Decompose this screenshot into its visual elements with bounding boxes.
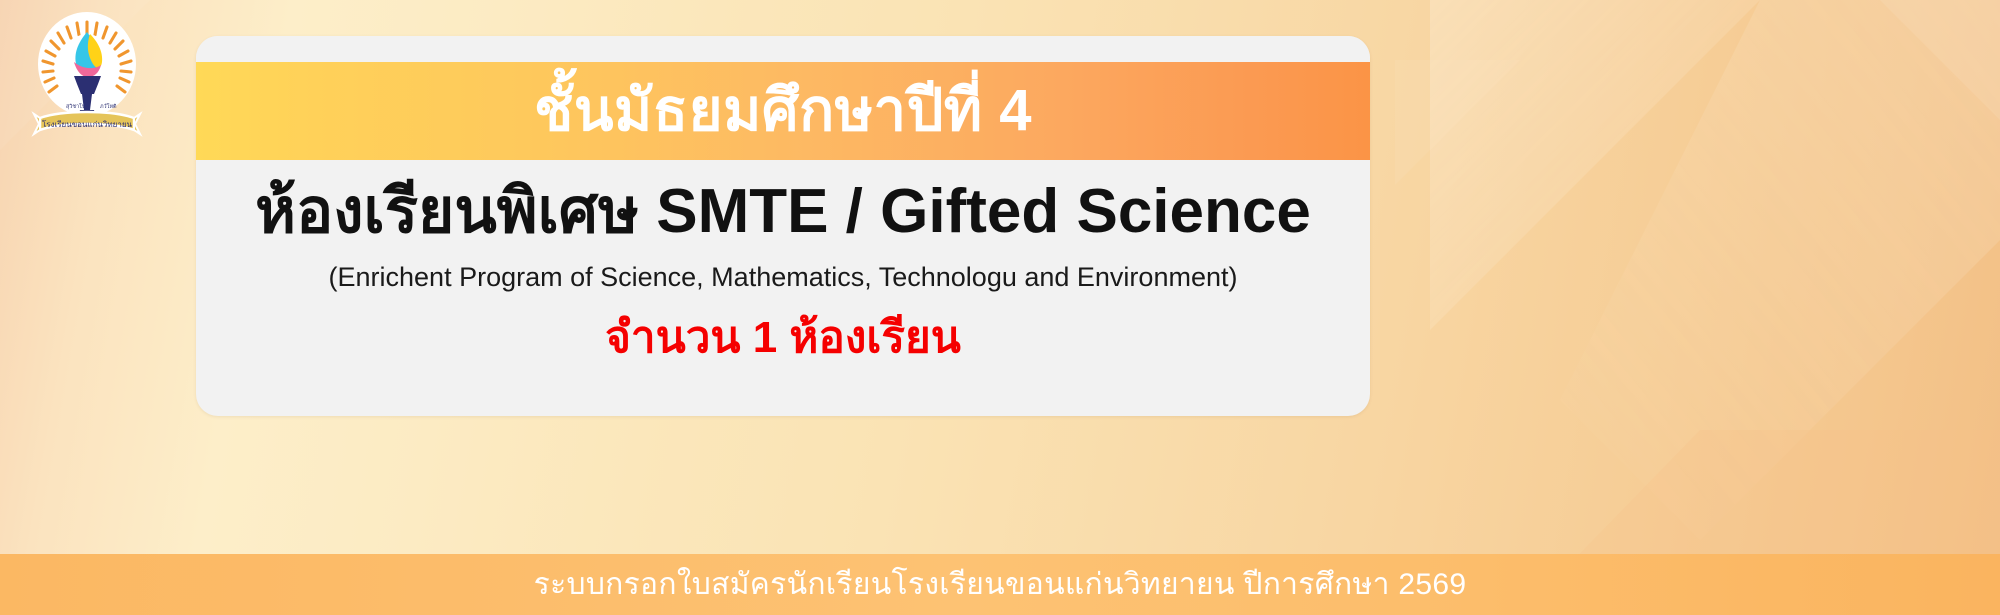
card-top-strip <box>196 36 1370 62</box>
card-banner: ชั้นมัธยมศึกษาปีที่ 4 <box>196 62 1370 160</box>
svg-text:สุวิชาโน: สุวิชาโน <box>66 103 86 110</box>
grade-level-title: ชั้นมัธยมศึกษาปีที่ 4 <box>534 82 1032 140</box>
program-subtitle-english: (Enrichent Program of Science, Mathemati… <box>329 261 1238 293</box>
classroom-count: จำนวน 1 ห้องเรียน <box>605 314 961 362</box>
program-card: ชั้นมัธยมศึกษาปีที่ 4 ห้องเรียนพิเศษ SMT… <box>196 36 1370 416</box>
school-logo: สุวิชาโน ภวํโหติ โรงเรียนขอนแก่นวิทยายน <box>24 6 150 142</box>
page-root: สุวิชาโน ภวํโหติ โรงเรียนขอนแก่นวิทยายน … <box>0 0 2000 615</box>
footer-system-title: ระบบกรอกใบสมัครนักเรียนโรงเรียนขอนแก่นวิ… <box>534 570 1467 600</box>
program-heading: ห้องเรียนพิเศษ SMTE / Gifted Science <box>255 176 1311 247</box>
svg-text:โรงเรียนขอนแก่นวิทยายน: โรงเรียนขอนแก่นวิทยายน <box>42 119 133 129</box>
svg-text:ภวํโหติ: ภวํโหติ <box>100 103 117 110</box>
footer-bar: ระบบกรอกใบสมัครนักเรียนโรงเรียนขอนแก่นวิ… <box>0 554 2000 615</box>
card-body: ห้องเรียนพิเศษ SMTE / Gifted Science (En… <box>196 160 1370 416</box>
